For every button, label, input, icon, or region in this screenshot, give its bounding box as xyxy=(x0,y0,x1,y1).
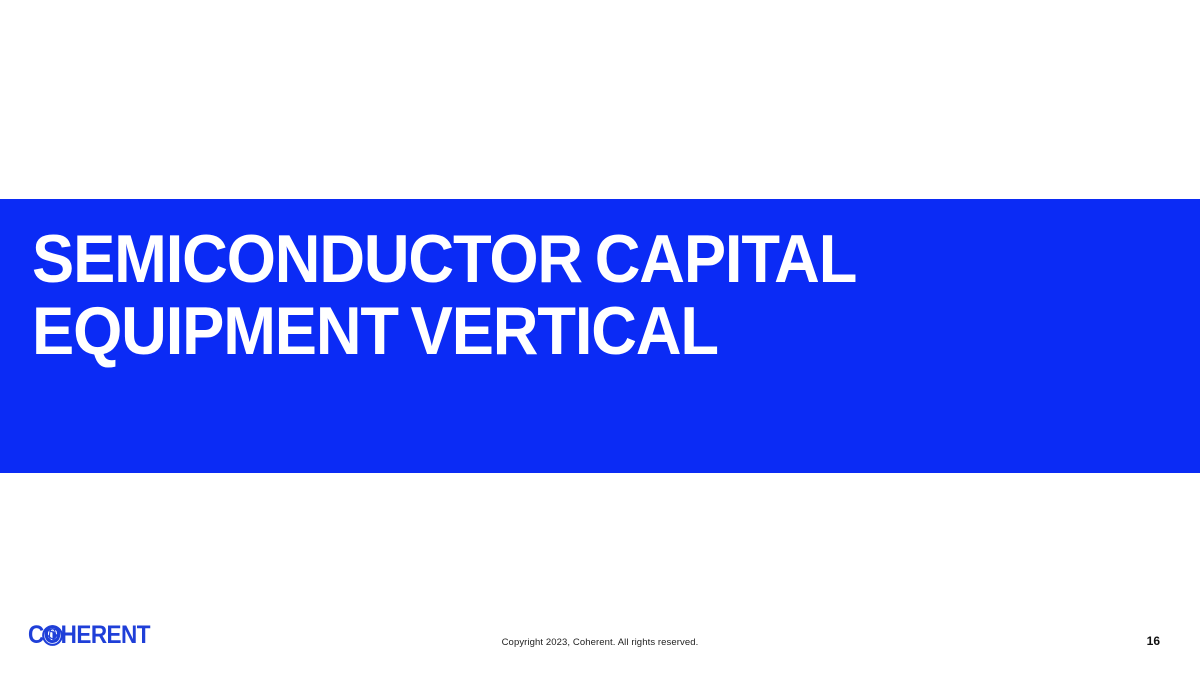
presentation-slide: SEMICONDUCTOR CAPITAL EQUIPMENT VERTICAL… xyxy=(0,0,1200,675)
copyright-notice: Copyright 2023, Coherent. All rights res… xyxy=(0,637,1200,649)
slide-title: SEMICONDUCTOR CAPITAL EQUIPMENT VERTICAL xyxy=(32,223,1152,367)
slide-title-line-1: SEMICONDUCTOR CAPITAL xyxy=(32,223,1074,295)
slide-title-line-2: EQUIPMENT VERTICAL xyxy=(32,295,1074,367)
page-number: 16 xyxy=(1147,634,1160,648)
slide-footer: COHERENT Copyright 2023, Coherent. All r… xyxy=(0,612,1200,675)
title-band: SEMICONDUCTOR CAPITAL EQUIPMENT VERTICAL xyxy=(0,199,1200,473)
